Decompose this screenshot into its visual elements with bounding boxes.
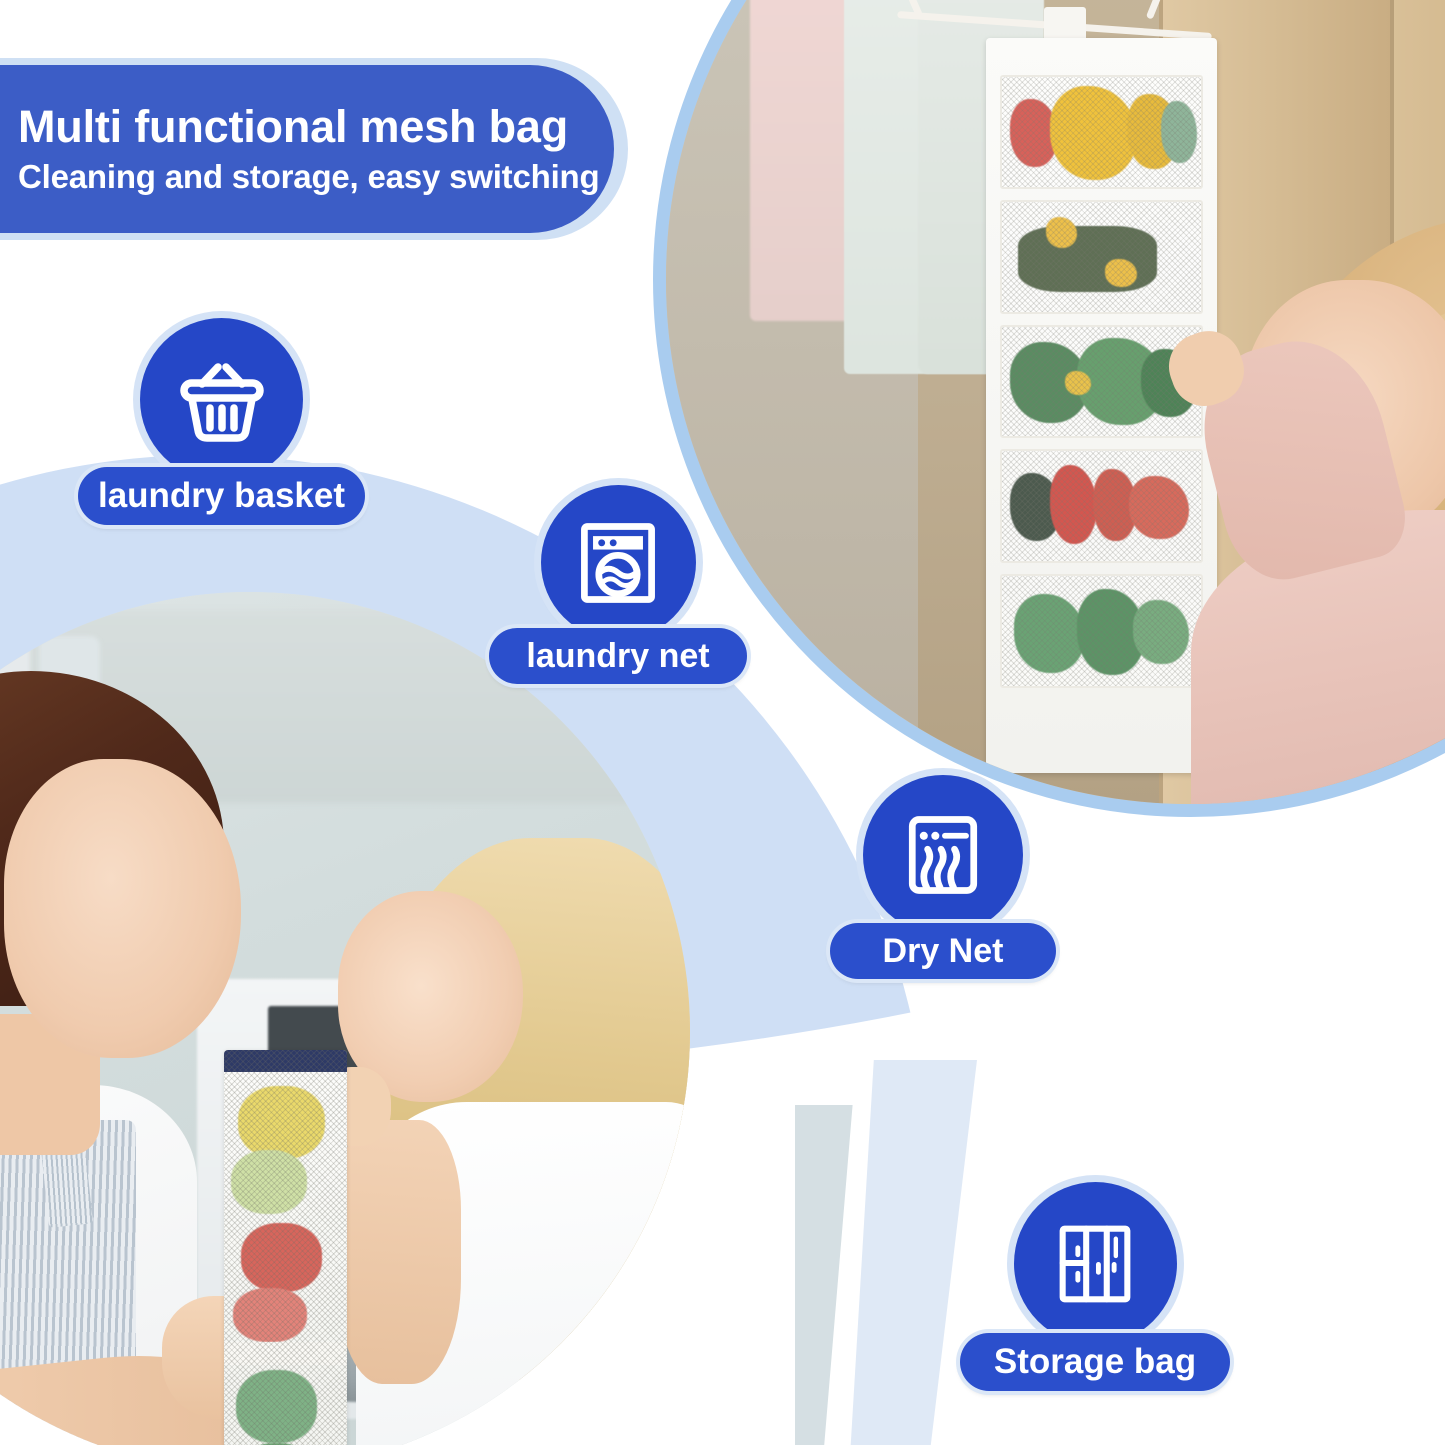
- laundry-basket-icon: [140, 318, 303, 481]
- feature-storage-bag[interactable]: Storage bag: [960, 1182, 1230, 1391]
- feature-dry-net[interactable]: Dry Net: [830, 775, 1056, 979]
- infographic-canvas: Multi functional mesh bag Cleaning and s…: [0, 0, 1445, 1445]
- feature-label-laundry-net: laundry net: [489, 628, 747, 684]
- laundry-room-photo: [0, 592, 690, 1445]
- feature-label-dry-net: Dry Net: [830, 923, 1056, 979]
- feature-laundry-net[interactable]: laundry net: [489, 485, 747, 684]
- feature-label-storage-bag: Storage bag: [960, 1333, 1230, 1391]
- wardrobe-closet-icon: [1014, 1182, 1177, 1345]
- dryer-heat-icon: [863, 775, 1023, 935]
- feature-laundry-basket[interactable]: laundry basket: [78, 318, 365, 525]
- feature-label-laundry-basket: laundry basket: [78, 467, 365, 525]
- washing-machine-icon: [541, 485, 696, 640]
- closet-organizer-photo: [653, 0, 1445, 817]
- banner-subtitle: Cleaning and storage, easy switching: [18, 159, 556, 195]
- banner-body: Multi functional mesh bag Cleaning and s…: [0, 65, 614, 233]
- banner-title: Multi functional mesh bag: [18, 103, 556, 151]
